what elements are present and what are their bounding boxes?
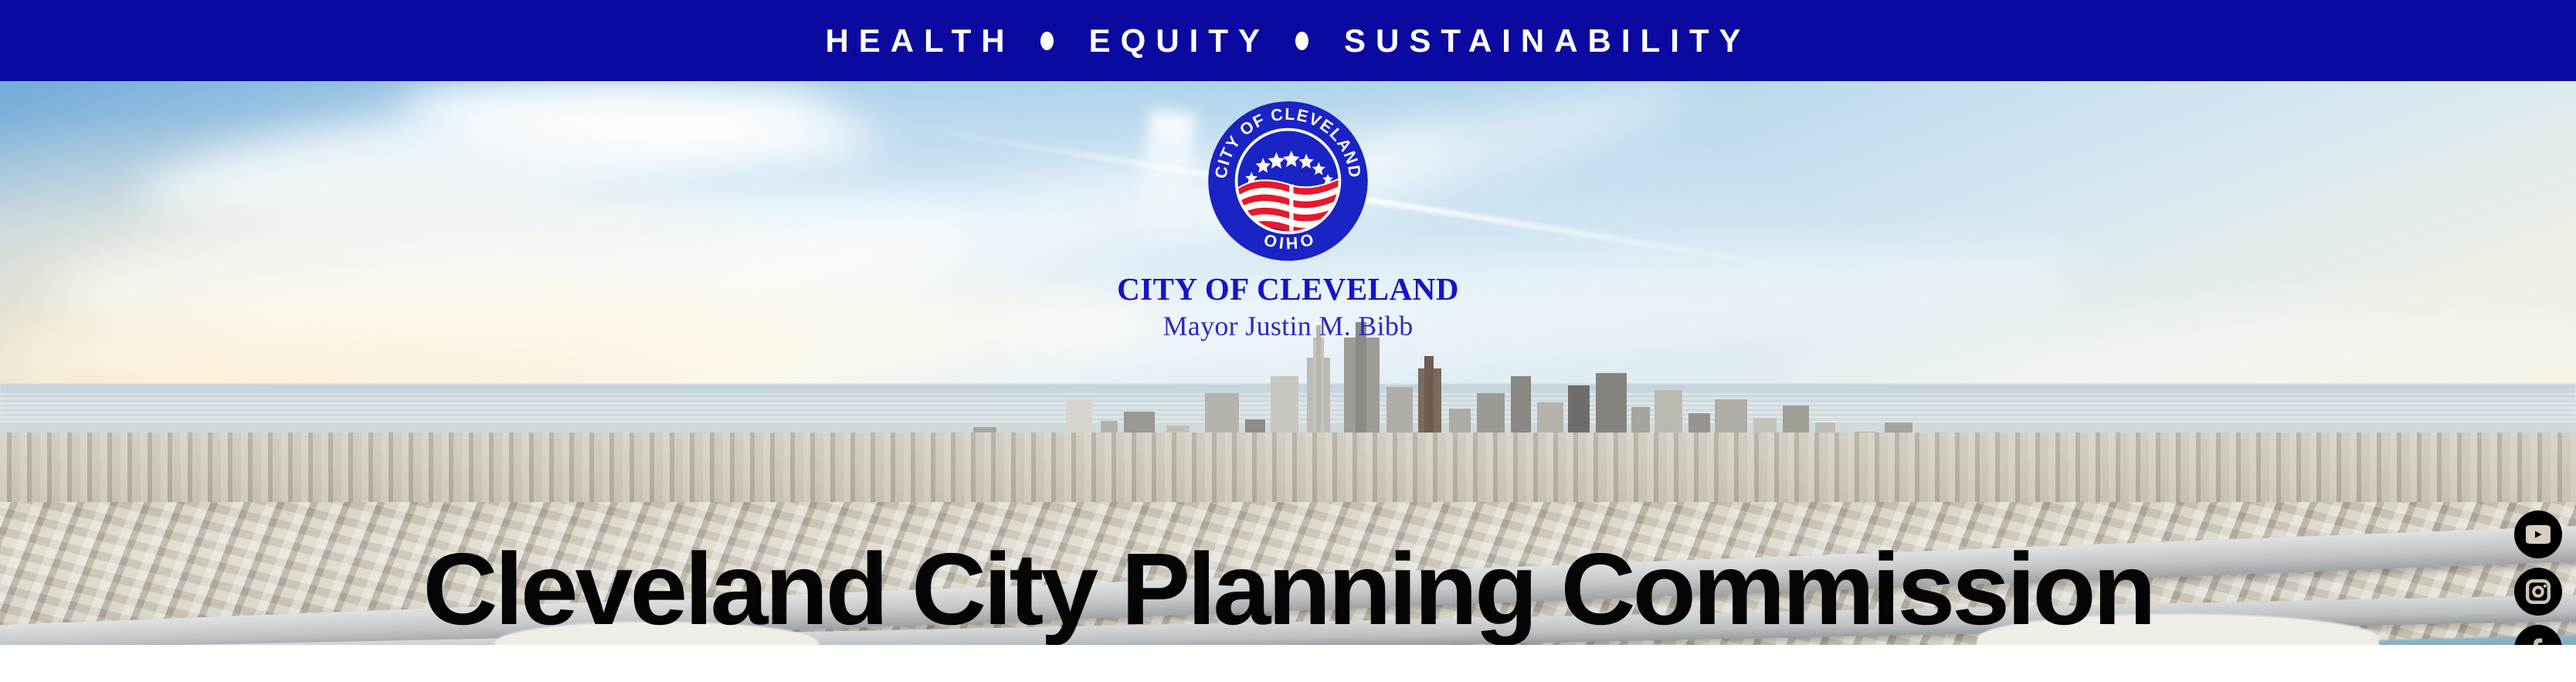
city-logo-block: CITY OF CLEVELAND OHIO xyxy=(0,81,2576,340)
social-link-instagram[interactable] xyxy=(2514,568,2562,616)
hero-photo: CITY OF CLEVELAND OHIO xyxy=(0,81,2576,645)
tagline-separator-dot-2 xyxy=(1295,32,1308,50)
instagram-icon xyxy=(2523,576,2554,607)
city-of-cleveland-seal-icon: CITY OF CLEVELAND OHIO xyxy=(1205,98,1371,264)
city-name-wordmark: CITY OF CLEVELAND xyxy=(1117,273,1459,305)
tagline-separator-dot-1 xyxy=(1040,32,1054,50)
page-title: Cleveland City Planning Commission xyxy=(0,538,2576,640)
cleveland-city-planning-header: HEALTH EQUITY SUSTAINABILITY xyxy=(0,0,2576,682)
facebook-icon xyxy=(2523,633,2554,645)
tagline-word-sustainability: SUSTAINABILITY xyxy=(1344,25,1751,57)
tagline-word-health: HEALTH xyxy=(825,25,1014,57)
tagline-text: HEALTH EQUITY SUSTAINABILITY xyxy=(825,25,1750,57)
mayor-name-label: Mayor Justin M. Bibb xyxy=(1162,312,1413,340)
tagline-banner: HEALTH EQUITY SUSTAINABILITY xyxy=(0,0,2576,81)
social-links xyxy=(2514,511,2562,645)
social-link-facebook[interactable] xyxy=(2514,625,2562,645)
social-link-youtube[interactable] xyxy=(2514,511,2562,558)
youtube-icon xyxy=(2523,519,2554,550)
tagline-word-equity: EQUITY xyxy=(1089,25,1270,57)
